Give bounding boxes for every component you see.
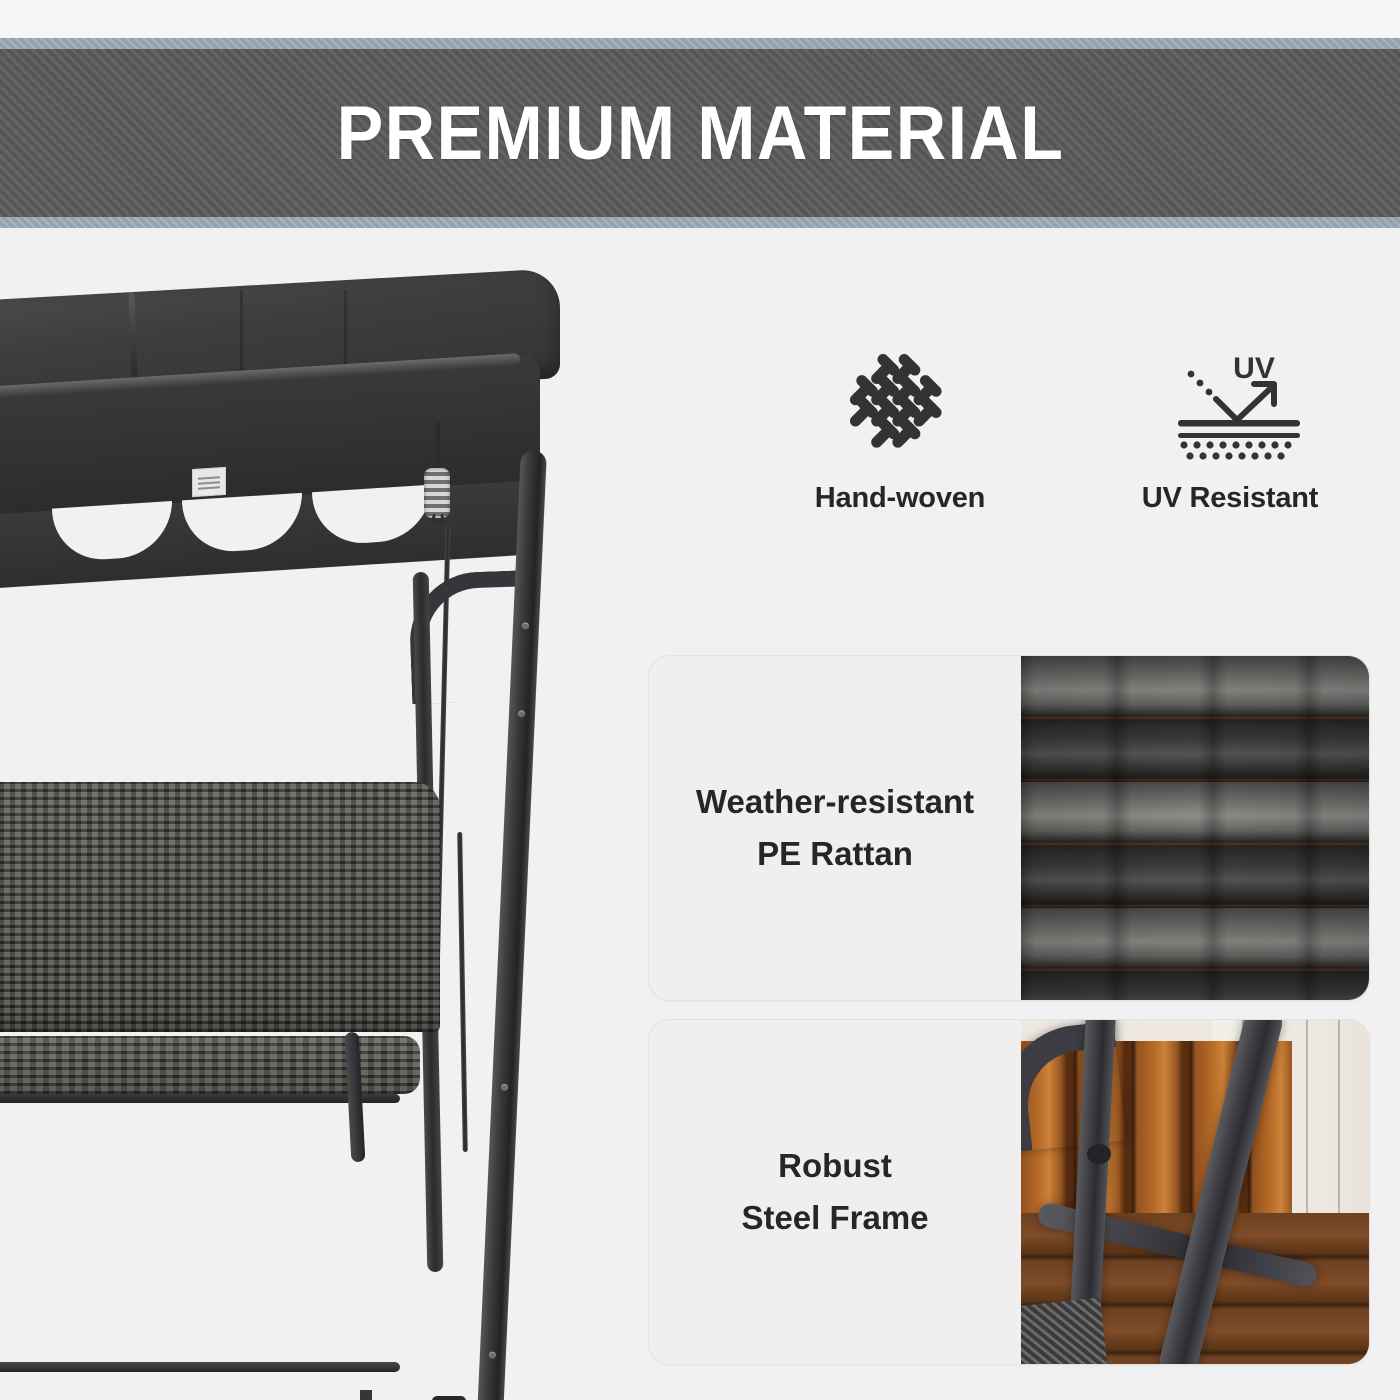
bench-backrest-rattan — [0, 782, 440, 1032]
promo-page: PREMIUM MATERIAL — [0, 0, 1400, 1400]
steel-frame-texture — [1021, 1020, 1369, 1364]
card-text-block: Weather-resistant PE Rattan — [649, 656, 1021, 1000]
frame-foot-cap — [432, 1396, 466, 1400]
feature-card-steel-frame: Robust Steel Frame — [648, 1019, 1370, 1365]
feature-hand-woven: Hand-woven — [790, 348, 1010, 558]
feature-label-uv-resistant: UV Resistant — [1142, 482, 1319, 515]
card-photo-pe-rattan — [1021, 656, 1369, 1000]
bench-underframe — [0, 1094, 400, 1103]
product-photo-swing-chair — [0, 272, 640, 1382]
product-label-tag — [192, 467, 226, 497]
card-title-line2: Steel Frame — [741, 1197, 928, 1239]
feature-label-hand-woven: Hand-woven — [815, 482, 985, 515]
post-rivet — [518, 710, 525, 717]
rattan-weave-texture — [1021, 656, 1369, 1000]
uv-icon-text: UV — [1233, 352, 1275, 385]
card-title-line1: Robust — [778, 1145, 892, 1187]
woven-pattern-icon — [844, 348, 956, 460]
header-banner: PREMIUM MATERIAL — [0, 38, 1400, 228]
page-title: PREMIUM MATERIAL — [336, 90, 1064, 177]
banner-bottom-edge — [0, 217, 1400, 228]
banner-body: PREMIUM MATERIAL — [0, 49, 1400, 217]
spring-hook — [432, 512, 444, 524]
uv-resistant-icon: UV — [1174, 348, 1286, 460]
card-title-line1: Weather-resistant — [696, 781, 974, 823]
icon-feature-row: Hand-woven UV — [700, 348, 1380, 558]
bench-lower-rail — [0, 1362, 400, 1372]
top-margin — [0, 0, 1400, 38]
feature-card-pe-rattan: Weather-resistant PE Rattan — [648, 655, 1370, 1001]
post-rivet — [522, 622, 529, 629]
frame-knob — [1087, 1144, 1111, 1164]
card-text-block: Robust Steel Frame — [649, 1020, 1021, 1364]
canopy-spring — [424, 468, 450, 518]
valance-scallop — [312, 485, 432, 547]
card-photo-steel-frame — [1021, 1020, 1369, 1364]
canopy-crease — [344, 290, 347, 374]
valance-scallop — [52, 501, 172, 563]
valance-scallop — [182, 493, 302, 555]
post-rivet — [489, 1351, 496, 1358]
canopy-crease — [240, 290, 243, 374]
banner-top-edge — [0, 38, 1400, 49]
post-rivet — [501, 1084, 508, 1091]
base-rail-curve — [360, 1390, 420, 1400]
feature-uv-resistant: UV — [1120, 348, 1340, 558]
feature-card-list: Weather-resistant PE Rattan Robust Steel… — [648, 655, 1370, 1365]
mesh-panel — [1021, 1298, 1108, 1364]
card-title-line2: PE Rattan — [757, 833, 913, 875]
